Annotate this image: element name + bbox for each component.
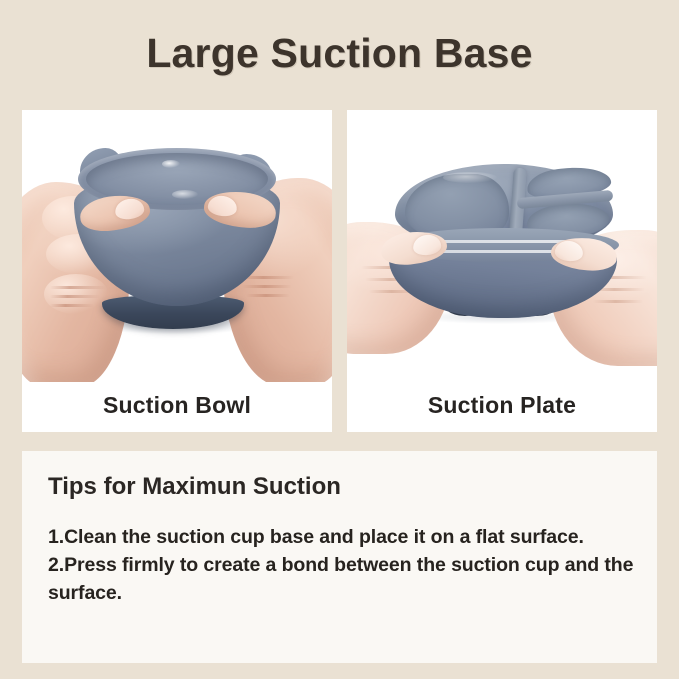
finger-crease bbox=[50, 304, 94, 307]
suction-bowl-illustration bbox=[22, 110, 332, 382]
product-card-suction-plate: Suction Plate bbox=[347, 110, 657, 432]
bowl-highlight bbox=[172, 190, 198, 199]
bowl-highlight bbox=[162, 160, 180, 168]
card-caption-suction-bowl: Suction Bowl bbox=[22, 382, 332, 432]
infographic-page: Large Suction Base bbox=[0, 0, 679, 679]
product-photo-suction-plate bbox=[347, 110, 657, 382]
tips-card: Tips for Maximun Suction 1.Clean the suc… bbox=[22, 451, 657, 663]
finger-crease bbox=[246, 294, 290, 297]
tips-heading: Tips for Maximun Suction bbox=[48, 473, 341, 501]
tips-list-item: 1.Clean the suction cup base and place i… bbox=[48, 523, 638, 551]
tips-list-item: 2.Press firmly to create a bond between … bbox=[48, 551, 638, 607]
finger-crease bbox=[50, 295, 100, 298]
tips-list: 1.Clean the suction cup base and place i… bbox=[48, 523, 638, 607]
finger-crease bbox=[593, 300, 643, 303]
finger-crease bbox=[242, 285, 292, 288]
suction-plate-illustration bbox=[347, 110, 657, 382]
card-caption-suction-plate: Suction Plate bbox=[347, 382, 657, 432]
page-title: Large Suction Base bbox=[0, 30, 679, 77]
product-card-suction-bowl: Suction Bowl bbox=[22, 110, 332, 432]
knuckle-highlight bbox=[44, 274, 108, 314]
finger-crease bbox=[50, 286, 106, 289]
product-photo-suction-bowl bbox=[22, 110, 332, 382]
plate-highlight bbox=[443, 172, 497, 183]
